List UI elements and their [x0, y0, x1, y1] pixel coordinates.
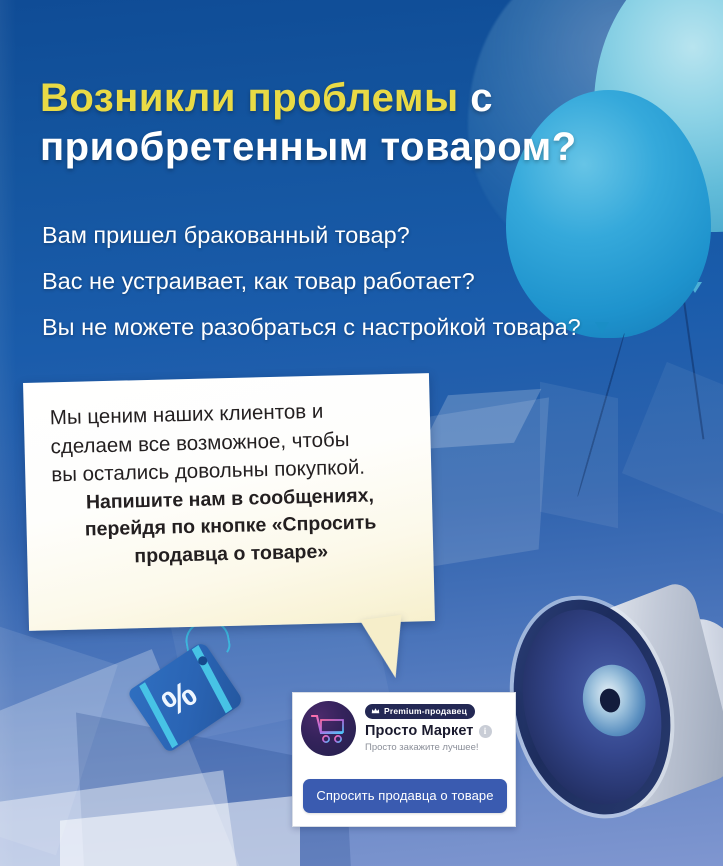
seller-tagline: Просто закажите лучшее!: [365, 742, 492, 753]
megaphone-icon: [492, 564, 723, 866]
question-list: Вам пришел бракованный товар? Вас не уст…: [42, 212, 714, 350]
crown-icon: [371, 707, 380, 715]
info-icon[interactable]: i: [479, 725, 492, 738]
decor-polygon-icon: [622, 362, 723, 518]
question-line: Вам пришел бракованный товар?: [42, 212, 714, 258]
page-title: Возникли проблемы с приобретенным товаро…: [40, 74, 700, 172]
decor-box-face-icon: [540, 382, 618, 529]
seller-name: Просто Маркет: [365, 723, 474, 739]
avatar[interactable]: [301, 701, 356, 756]
seller-name-row: Просто Маркет i: [365, 723, 492, 739]
headline-line-1-tail: с: [459, 76, 493, 120]
poster-root: % Возникли проблемы с приобретенным това…: [0, 0, 723, 866]
left-edge-gradient: [0, 0, 16, 866]
headline-highlight: Возникли проблемы: [40, 76, 459, 120]
status-badge: Premium-продавец: [365, 704, 475, 719]
headline-line-1: Возникли проблемы с: [40, 74, 700, 123]
speech-bubble-text: Мы ценим наших клиентов и сделаем все во…: [50, 396, 410, 573]
ask-seller-button[interactable]: Спросить продавца о товаре: [303, 779, 507, 813]
speech-bubble-tail-icon: [360, 615, 410, 682]
seller-header: Premium-продавец Просто Маркет i Просто …: [301, 701, 492, 756]
status-badge-label: Premium-продавец: [384, 706, 467, 716]
speech-bubble: Мы ценим наших клиентов и сделаем все во…: [23, 373, 435, 631]
seller-meta: Premium-продавец Просто Маркет i Просто …: [365, 701, 492, 753]
shopping-cart-icon: [311, 714, 347, 744]
headline-line-2: приобретенным товаром?: [40, 123, 700, 172]
question-line: Вас не устраивает, как товар работает?: [42, 258, 714, 304]
seller-card[interactable]: Premium-продавец Просто Маркет i Просто …: [292, 692, 516, 827]
question-line: Вы не можете разобраться с настройкой то…: [42, 304, 714, 350]
